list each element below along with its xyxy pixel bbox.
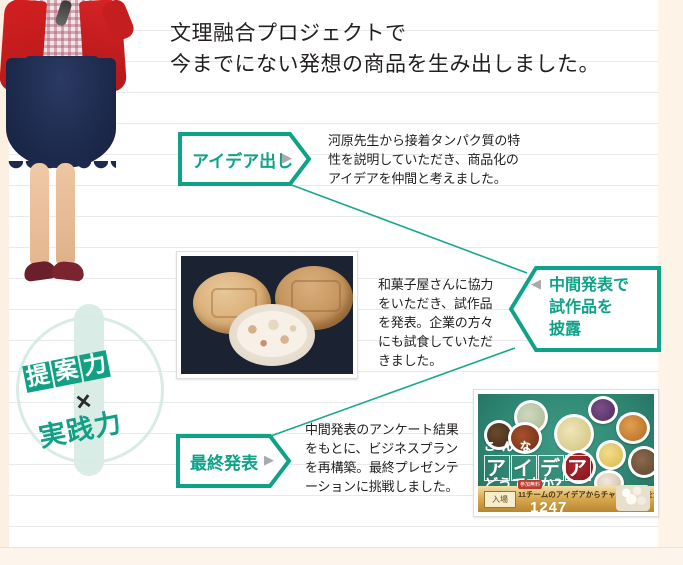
step-badge-interim[interactable]: ◀ 中間発表で 試作品を 披露: [509, 266, 661, 352]
poster-dish-5: [588, 396, 618, 424]
emblem-char-2: 案: [51, 356, 83, 388]
poster-free-tag: 参加無料: [518, 480, 542, 489]
step-badge-interim-label-line1: 中間発表で: [549, 274, 629, 296]
step-badge-idea[interactable]: アイデア出し ▶: [178, 132, 312, 186]
student-presentation-photo: [0, 0, 152, 330]
triangle-right-icon: ▶: [264, 452, 274, 468]
poster-big-number: 1247: [530, 499, 567, 512]
page-title-line1: 文理融合プロジェクトで: [170, 18, 640, 49]
poster-inner: こんな アイデア どうですか? 〜 食と技術と Idea 〜 ♛ 入場 参加無料…: [478, 394, 654, 512]
poster-dish-7: [596, 440, 626, 470]
step-badge-interim-label-line2: 試作品を: [549, 296, 629, 318]
poster-dish-8: [628, 446, 654, 478]
page-root: 提 案 力 × 実践力 文理融合プロジェクトで 今までにない発想の商品を生み出し…: [0, 0, 683, 565]
prototype-food-photo: [176, 251, 358, 379]
step-badge-final-label: 最終発表: [190, 449, 258, 474]
step-body-interim: 和菓子屋さんに協力をいただき、試作品を発表。企業の方々にも試食していただきました…: [378, 276, 496, 371]
popcorn-icon: [616, 485, 650, 511]
wagashi-filling-plate: [229, 304, 315, 366]
food-photo-inner: [181, 256, 353, 374]
event-poster-photo: こんな アイデア どうですか? 〜 食と技術と Idea 〜 ♛ 入場 参加無料…: [473, 389, 659, 517]
poster-dish-6: [616, 412, 650, 444]
poster-idea-char-4: ア: [565, 455, 591, 481]
step-badge-interim-label-line3: 披露: [549, 318, 629, 340]
navy-skirt: [6, 58, 116, 168]
paper-edge-right: [658, 0, 683, 548]
page-title-line2: 今までにない発想の商品を生み出しました。: [170, 49, 640, 80]
emblem-char-3: 力: [79, 350, 111, 382]
step-body-final: 中間発表のアンケート結果をもとに、ビジネスプランを再構築。最終プレゼンテーション…: [305, 421, 463, 497]
step-body-idea: 河原先生から接着タンパク質の特性を説明していただき、商品化のアイデアを仲間と考え…: [328, 132, 520, 189]
emblem-char-1: 提: [22, 361, 54, 393]
step-badge-final[interactable]: 最終発表 ▶: [176, 434, 292, 488]
leg-left: [30, 163, 49, 268]
triangle-right-icon: ▶: [282, 150, 292, 166]
step-badge-interim-label: 中間発表で 試作品を 披露: [549, 274, 629, 340]
skills-emblem: 提 案 力 × 実践力: [16, 316, 164, 464]
page-title: 文理融合プロジェクトで 今までにない発想の商品を生み出しました。: [170, 18, 640, 80]
poster-dish-4: [554, 414, 594, 454]
triangle-left-icon: ◀: [531, 276, 541, 292]
paper-edge-bottom: [0, 547, 683, 565]
poster-entry-badge: 入場: [484, 491, 516, 508]
step-badge-idea-label: アイデア出し: [192, 147, 293, 172]
leg-right: [56, 163, 75, 268]
